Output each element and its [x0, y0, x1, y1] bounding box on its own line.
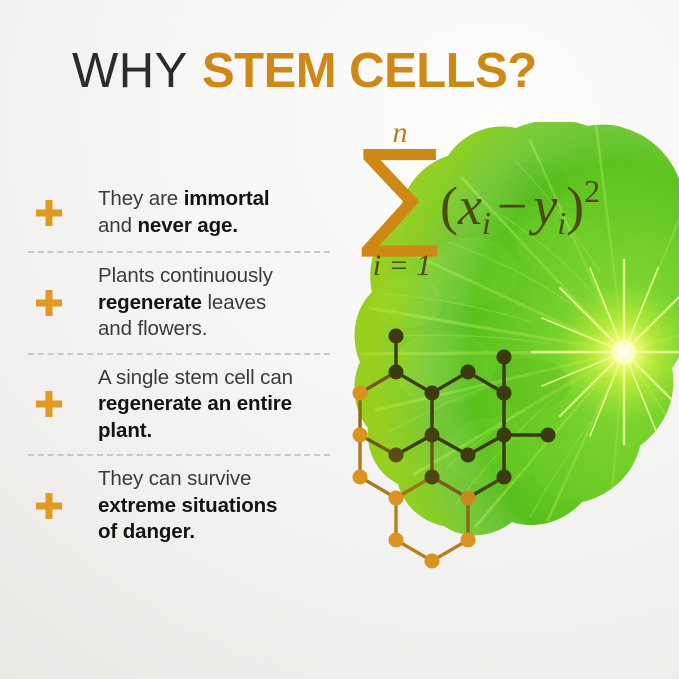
molecule-node — [389, 533, 404, 548]
molecule-node — [353, 428, 368, 443]
poster-canvas: n ∑ i = 1 (xi−yi)2 WHY STEM CELLS? They … — [0, 0, 679, 679]
bullet-1-line2-normal: and — [98, 214, 138, 237]
plus-icon-cell — [28, 391, 98, 417]
title-space — [188, 44, 202, 98]
molecule-node — [461, 533, 476, 548]
molecule-node — [353, 386, 368, 401]
bullet-4-line3-bold: of danger. — [98, 520, 195, 543]
sun-flare-highlight — [532, 260, 679, 444]
molecule-node — [353, 470, 368, 485]
bullet-3-line3-bold: plant. — [98, 419, 152, 442]
plus-icon — [36, 391, 62, 417]
molecule-node — [461, 448, 476, 463]
molecule-node — [389, 329, 404, 344]
molecule-node — [389, 365, 404, 380]
leaf-image — [352, 122, 679, 582]
molecule-node — [425, 386, 440, 401]
formula-upper-limit: n — [393, 116, 408, 149]
bullet-1-line1-bold: immortal — [184, 187, 270, 210]
bullet-2-line1-normal: Plants continuously — [98, 264, 273, 287]
formula-paren-close: ) — [566, 176, 584, 236]
list-item-text: They are immortal and never age. — [98, 186, 338, 239]
page-title-thin: WHY — [72, 44, 188, 98]
molecule-node — [497, 470, 512, 485]
plus-icon-cell — [28, 200, 98, 226]
bullet-4-line2-bold: extreme situations — [98, 494, 277, 517]
molecule-node — [425, 428, 440, 443]
plus-icon-cell — [28, 290, 98, 316]
list-item-text: A single stem cell can regenerate an ent… — [98, 365, 338, 445]
list-separator — [28, 454, 330, 456]
formula-x-sub: i — [482, 205, 491, 241]
benefits-list: They are immortal and never age. Plants … — [28, 186, 338, 546]
list-item: They can survive extreme situations of d… — [28, 466, 338, 546]
formula-y-sub: i — [557, 205, 566, 241]
molecule-node — [497, 428, 512, 443]
summation-formula: n ∑ i = 1 (xi−yi)2 — [352, 112, 672, 287]
list-item: A single stem cell can regenerate an ent… — [28, 365, 338, 445]
molecule-node — [497, 350, 512, 365]
formula-sigma: ∑ — [360, 124, 440, 262]
formula-lower-limit: i = 1 — [373, 249, 432, 282]
formula-x: x — [457, 176, 482, 236]
list-item-text: Plants continuously regenerate leaves an… — [98, 263, 338, 343]
list-separator — [28, 251, 330, 253]
bullet-2-line3-normal: and flowers. — [98, 317, 207, 340]
plus-icon — [36, 290, 62, 316]
formula-body: (xi−yi)2 — [440, 173, 600, 241]
plus-icon — [36, 200, 62, 226]
list-item: They are immortal and never age. — [28, 186, 338, 241]
page-title: WHY STEM CELLS? — [72, 42, 652, 100]
formula-y: y — [528, 176, 557, 236]
molecule-node — [425, 554, 440, 569]
plus-icon-cell — [28, 493, 98, 519]
formula-minus: − — [497, 176, 527, 236]
formula-exponent: 2 — [584, 173, 600, 209]
bullet-4-line1-normal: They can survive — [98, 467, 251, 490]
bullet-3-line1-normal: A single stem cell can — [98, 366, 293, 389]
molecule-node — [425, 470, 440, 485]
molecule-node — [497, 386, 512, 401]
molecule-node — [461, 491, 476, 506]
bullet-3-line2-bold: regenerate an entire — [98, 392, 292, 415]
bullet-2-line2-tail: leaves — [202, 291, 266, 314]
formula-paren-open: ( — [440, 176, 458, 236]
bullet-2-line2-bold: regenerate — [98, 291, 202, 314]
list-separator — [28, 353, 330, 355]
molecule-node — [541, 428, 556, 443]
list-item-text: They can survive extreme situations of d… — [98, 466, 338, 546]
bullet-1-line2-bold: never age. — [138, 214, 238, 237]
page-title-bold: STEM CELLS? — [202, 44, 537, 98]
plus-icon — [36, 493, 62, 519]
molecule-node — [389, 448, 404, 463]
list-item: Plants continuously regenerate leaves an… — [28, 263, 338, 343]
bullet-1-line1-normal: They are — [98, 187, 184, 210]
molecule-node — [389, 491, 404, 506]
molecule-node — [461, 365, 476, 380]
